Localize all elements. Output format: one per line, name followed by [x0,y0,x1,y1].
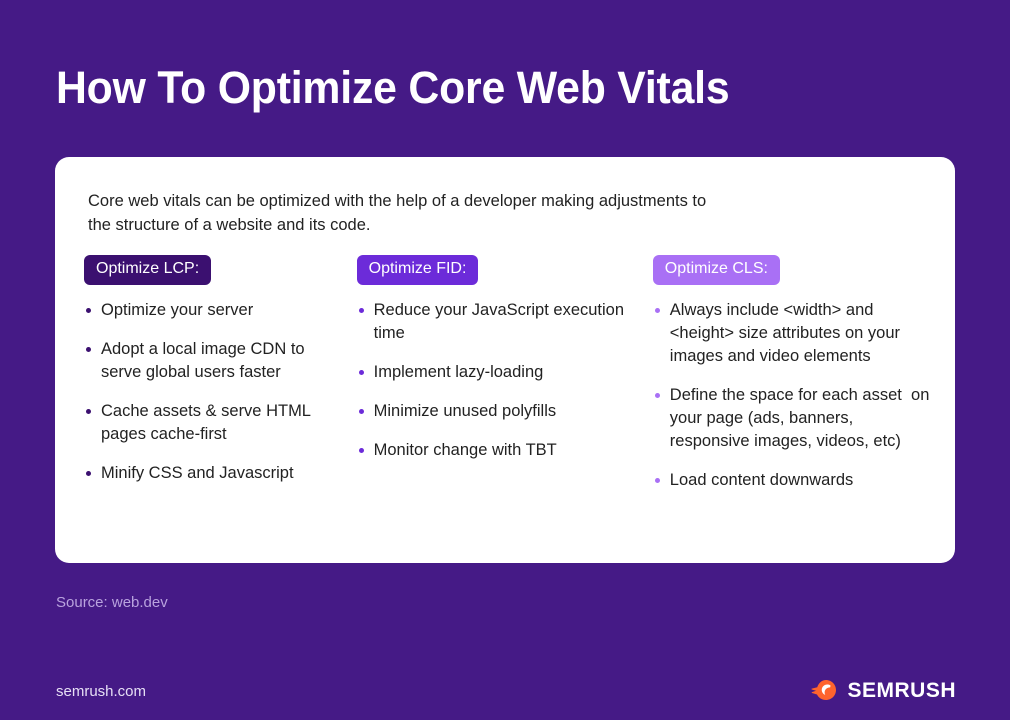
site-url: semrush.com [56,683,146,700]
badge-optimize-cls: Optimize CLS: [653,255,780,285]
list-item: Monitor change with TBT [357,439,643,462]
list-item: Optimize your server [84,299,347,322]
page-title: How To Optimize Core Web Vitals [56,62,729,114]
infographic-page: How To Optimize Core Web Vitals Core web… [0,0,1010,720]
intro-paragraph: Core web vitals can be optimized with th… [88,189,708,237]
list-item: Implement lazy-loading [357,361,643,384]
list-item: Cache assets & serve HTML pages cache-fi… [84,400,347,446]
badge-optimize-lcp: Optimize LCP: [84,255,211,285]
list-item: Minify CSS and Javascript [84,462,347,485]
semrush-comet-icon [811,679,838,701]
list-item: Always include <width> and <height> size… [653,299,937,368]
list-item: Load content downwards [653,469,937,492]
list-item: Minimize unused polyfills [357,400,643,423]
optimization-columns: Optimize LCP: Optimize your server Adopt… [84,255,937,492]
list-fid: Reduce your JavaScript execution time Im… [357,299,643,462]
list-item: Define the space for each asset on your … [653,384,937,453]
list-lcp: Optimize your server Adopt a local image… [84,299,347,485]
semrush-logo: SEMRUSH [811,679,956,701]
list-item: Adopt a local image CDN to serve global … [84,338,347,384]
column-fid: Optimize FID: Reduce your JavaScript exe… [357,255,653,492]
column-cls: Optimize CLS: Always include <width> and… [653,255,937,492]
badge-optimize-fid: Optimize FID: [357,255,479,285]
column-lcp: Optimize LCP: Optimize your server Adopt… [84,255,357,492]
list-item: Reduce your JavaScript execution time [357,299,643,345]
source-attribution: Source: web.dev [56,594,168,611]
semrush-wordmark: SEMRUSH [847,680,956,701]
content-card: Core web vitals can be optimized with th… [55,157,955,563]
list-cls: Always include <width> and <height> size… [653,299,937,492]
